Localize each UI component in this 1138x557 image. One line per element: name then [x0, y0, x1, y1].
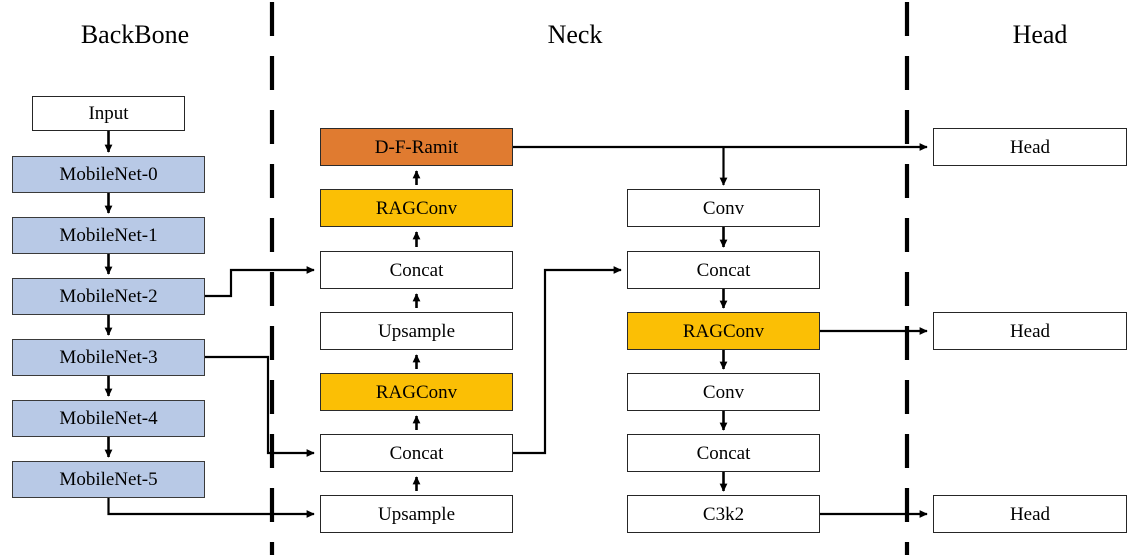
architecture-diagram-canvas: BackBone Neck Head Input MobileNet-0 Mob…: [0, 0, 1138, 557]
edge-mn3-to-concat2: [205, 357, 314, 453]
node-upsample-1[interactable]: Upsample: [320, 312, 513, 350]
node-input[interactable]: Input: [32, 96, 185, 131]
edge-mn2-to-concat1: [205, 270, 314, 296]
section-title-backbone: BackBone: [40, 20, 230, 50]
section-title-head: Head: [945, 20, 1135, 50]
node-ragconv-head[interactable]: RAGConv: [627, 312, 820, 350]
node-ragconv-neck-2[interactable]: RAGConv: [320, 373, 513, 411]
node-upsample-2[interactable]: Upsample: [320, 495, 513, 533]
node-conv-2[interactable]: Conv: [627, 373, 820, 411]
node-ragconv-neck-1[interactable]: RAGConv: [320, 189, 513, 227]
edge-mn5-to-upsample2: [109, 498, 315, 514]
node-mobilenet-4[interactable]: MobileNet-4: [12, 400, 205, 437]
node-d-f-ramit[interactable]: D-F-Ramit: [320, 128, 513, 166]
node-concat-right-1[interactable]: Concat: [627, 251, 820, 289]
node-concat-neck-1[interactable]: Concat: [320, 251, 513, 289]
node-c3k2[interactable]: C3k2: [627, 495, 820, 533]
node-conv-1[interactable]: Conv: [627, 189, 820, 227]
section-title-neck: Neck: [480, 20, 670, 50]
node-concat-right-2[interactable]: Concat: [627, 434, 820, 472]
edge-concat2-to-concatr1: [513, 270, 621, 453]
node-mobilenet-1[interactable]: MobileNet-1: [12, 217, 205, 254]
node-mobilenet-0[interactable]: MobileNet-0: [12, 156, 205, 193]
node-head-1[interactable]: Head: [933, 128, 1127, 166]
node-mobilenet-2[interactable]: MobileNet-2: [12, 278, 205, 315]
node-head-2[interactable]: Head: [933, 312, 1127, 350]
node-mobilenet-3[interactable]: MobileNet-3: [12, 339, 205, 376]
node-head-3[interactable]: Head: [933, 495, 1127, 533]
node-mobilenet-5[interactable]: MobileNet-5: [12, 461, 205, 498]
node-concat-neck-2[interactable]: Concat: [320, 434, 513, 472]
